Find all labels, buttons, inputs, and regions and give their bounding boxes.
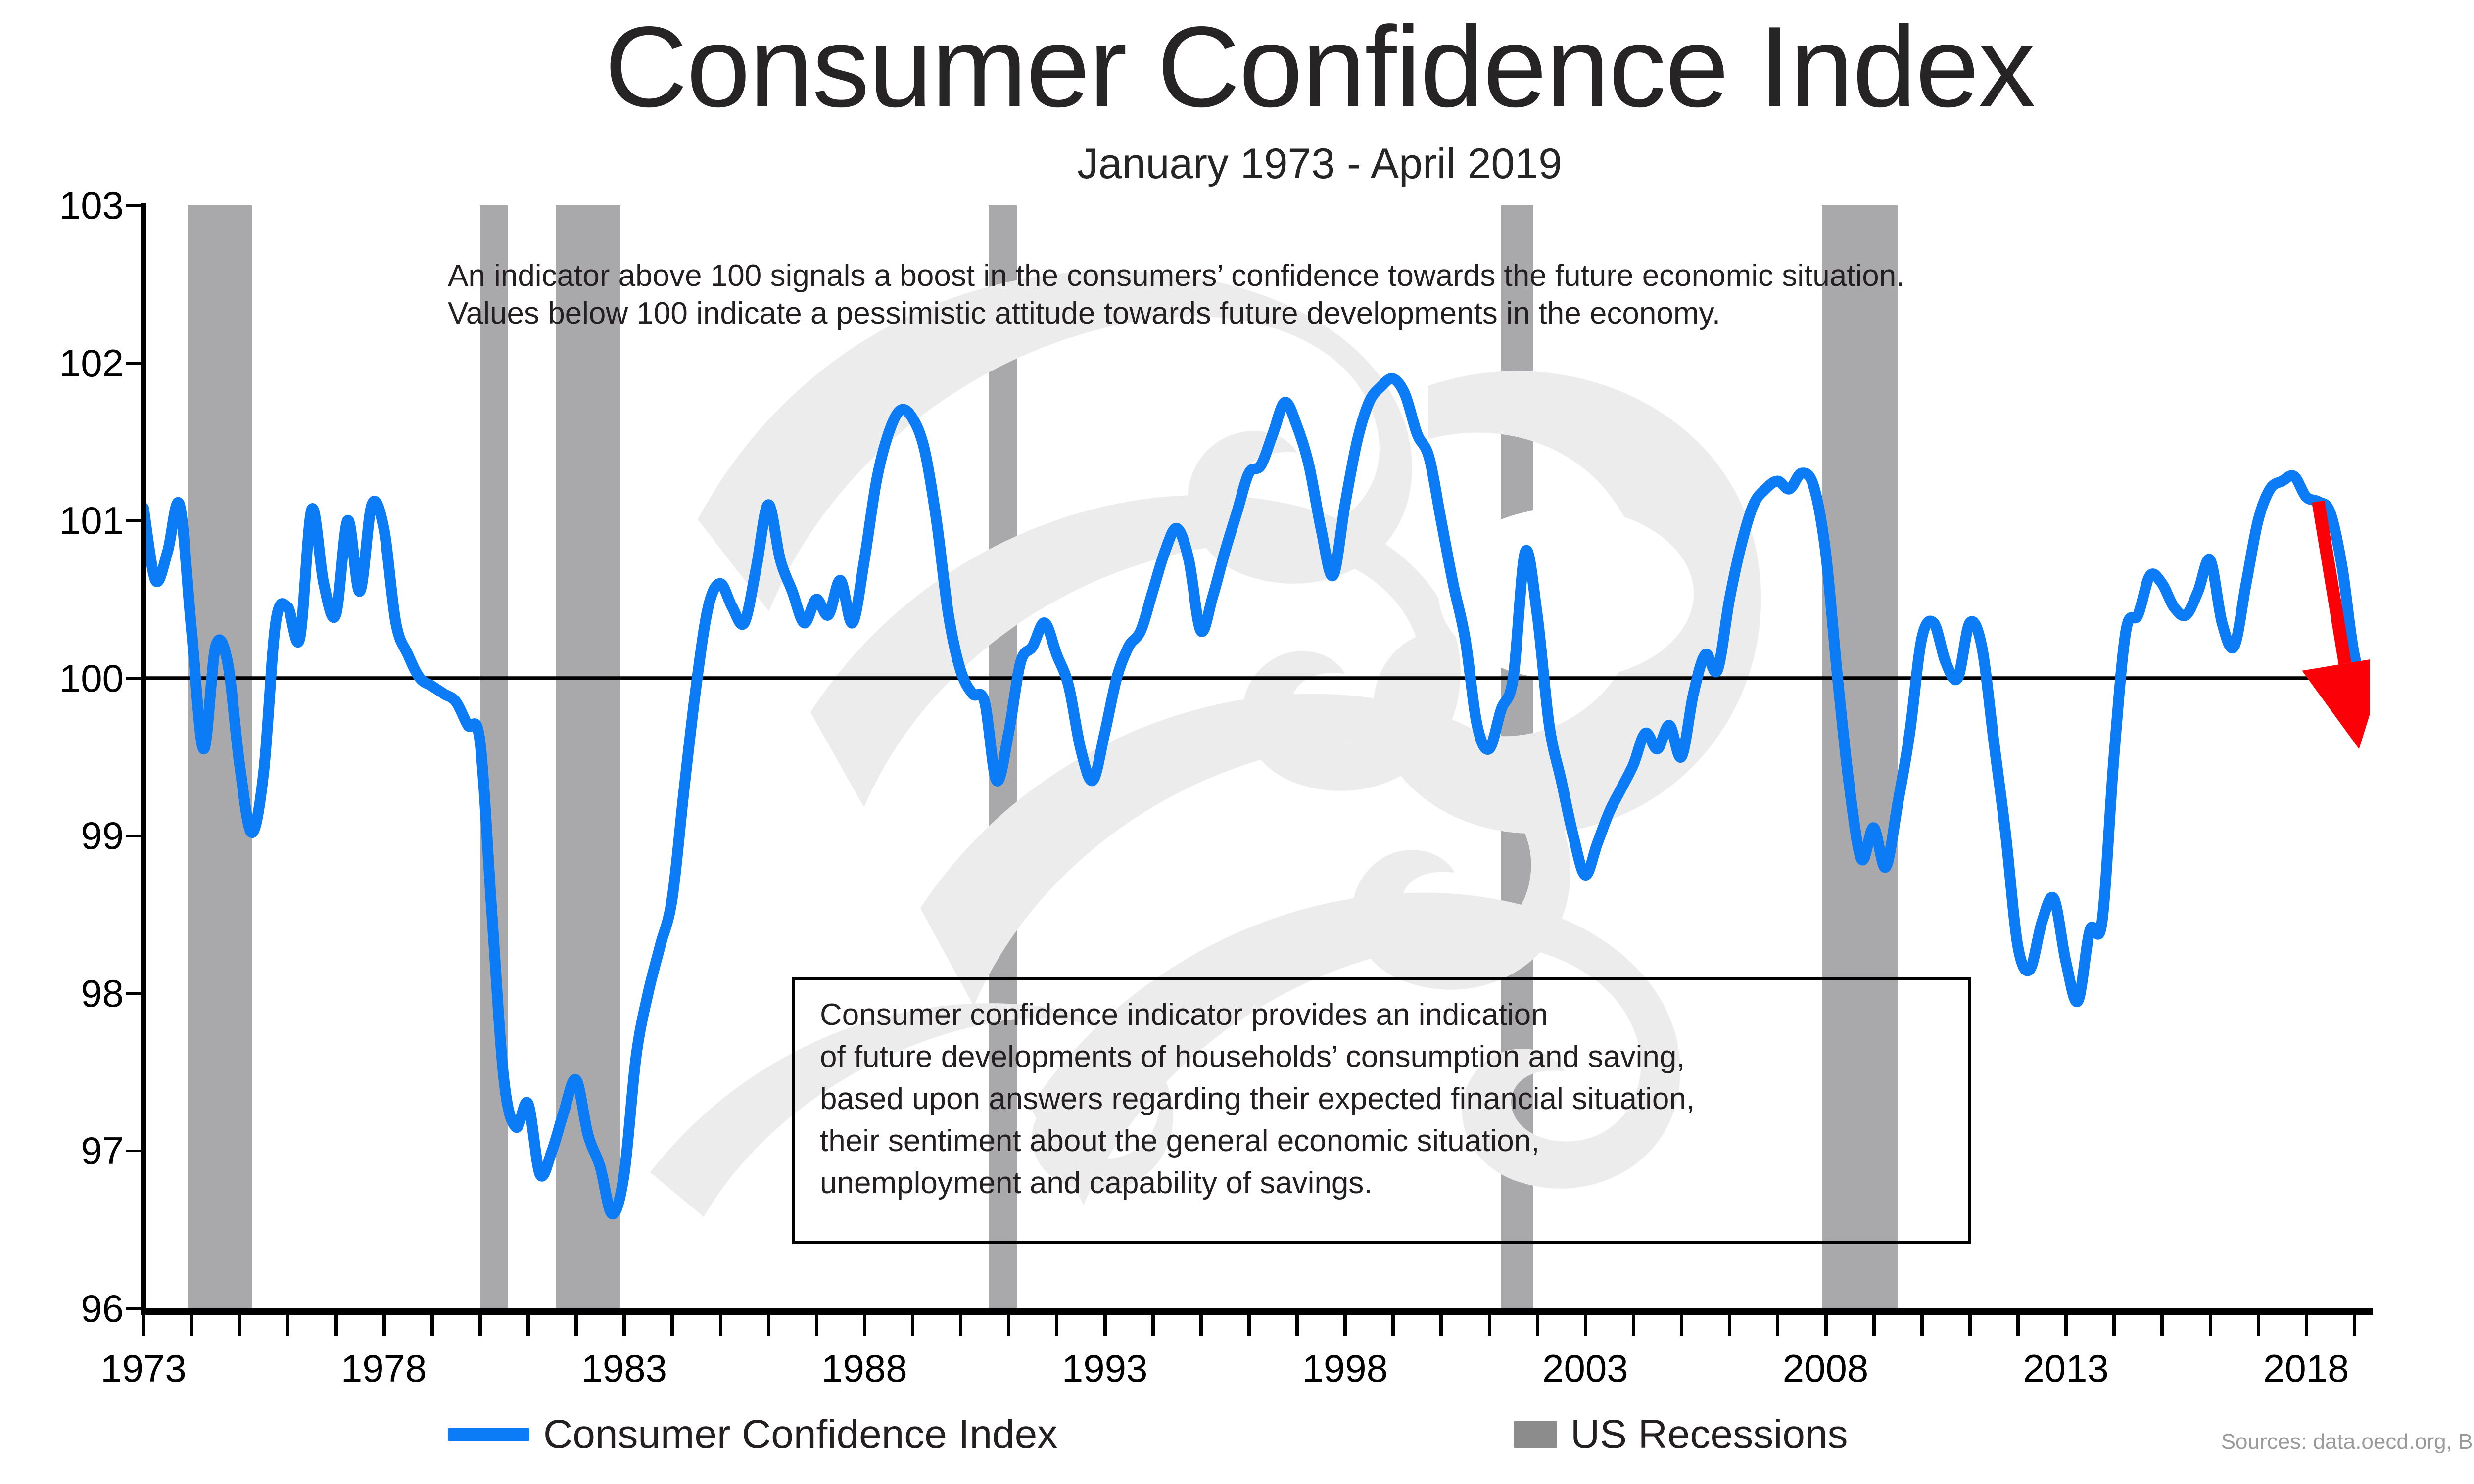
x-axis-tick-label: 1993	[1031, 1347, 1179, 1389]
x-axis-tick	[190, 1315, 193, 1336]
x-axis-tick	[1151, 1315, 1155, 1336]
definition-box: Consumer confidence indicator provides a…	[792, 977, 1971, 1244]
top-annotation-line-1: An indicator above 100 signals a boost i…	[448, 257, 2279, 295]
x-axis-tick-label: 2008	[1752, 1347, 1900, 1389]
y-axis-tick-label: 96	[10, 1289, 124, 1328]
x-axis-tick	[1391, 1315, 1395, 1336]
y-axis-tick-label: 102	[10, 344, 124, 382]
x-axis-tick	[1055, 1315, 1058, 1336]
x-axis-tick	[526, 1315, 530, 1336]
y-axis-tick	[126, 204, 143, 207]
x-axis-tick	[430, 1315, 434, 1336]
x-axis-tick	[2064, 1315, 2068, 1336]
x-axis-tick	[2209, 1315, 2212, 1336]
top-annotation-line-2: Values below 100 indicate a pessimistic …	[448, 295, 2279, 332]
x-axis-tick	[863, 1315, 866, 1336]
x-axis-tick-label: 1988	[790, 1347, 939, 1389]
x-axis-tick-label: 1998	[1271, 1347, 1419, 1389]
legend-swatch-box	[1514, 1421, 1557, 1448]
chart-legend: Consumer Confidence Index US Recessions	[0, 1405, 2474, 1469]
y-axis-labels: 96979899100101102103	[0, 0, 124, 1484]
x-axis-tick	[1103, 1315, 1107, 1336]
x-axis-tick	[767, 1315, 770, 1336]
definition-line-1: Consumer confidence indicator provides a…	[820, 994, 1968, 1036]
y-axis-tick	[126, 992, 143, 995]
x-axis-tick	[670, 1315, 674, 1336]
chart-canvas: Consumer Confidence Index January 1973 -…	[0, 0, 2474, 1484]
x-axis-tick-label: 1978	[310, 1347, 458, 1389]
y-axis-tick-label: 103	[10, 186, 124, 225]
x-axis-tick	[1536, 1315, 1539, 1336]
y-axis-tick	[126, 1150, 143, 1152]
x-axis-tick	[142, 1315, 145, 1336]
x-axis-tick	[719, 1315, 722, 1336]
x-axis-tick	[2016, 1315, 2020, 1336]
x-axis-tick	[959, 1315, 962, 1336]
x-axis-tick-label: 1983	[550, 1347, 698, 1389]
x-axis-tick	[1584, 1315, 1587, 1336]
chart-title: Consumer Confidence Index	[0, 10, 2474, 125]
x-axis-tick	[1920, 1315, 1924, 1336]
y-axis-tick	[126, 1307, 143, 1310]
x-axis-tick-label: 2013	[1992, 1347, 2140, 1389]
x-axis-tick	[1776, 1315, 1779, 1336]
x-axis-tick	[1872, 1315, 1876, 1336]
x-axis-tick	[2305, 1315, 2308, 1336]
legend-label-recessions: US Recessions	[1570, 1413, 1848, 1456]
legend-swatch-line	[448, 1428, 529, 1441]
x-axis-tick	[911, 1315, 914, 1336]
x-axis-tick	[2353, 1315, 2356, 1336]
x-axis-tick	[334, 1315, 338, 1336]
sources-note: Sources: data.oecd.org, BMG Group Inc.	[2221, 1430, 2474, 1454]
x-axis-tick	[1728, 1315, 1731, 1336]
y-axis-tick	[126, 362, 143, 365]
chart-subtitle: January 1973 - April 2019	[0, 142, 2474, 185]
x-axis-tick	[238, 1315, 241, 1336]
legend-label-series: Consumer Confidence Index	[543, 1413, 1057, 1456]
x-axis-tick	[622, 1315, 626, 1336]
x-axis-tick	[815, 1315, 818, 1336]
x-axis-tick	[2112, 1315, 2116, 1336]
y-axis-tick-label: 97	[10, 1131, 124, 1170]
legend-item-consumer-confidence-index[interactable]: Consumer Confidence Index	[448, 1405, 1057, 1464]
y-axis-tick-label: 100	[10, 659, 124, 697]
x-axis-tick	[2257, 1315, 2260, 1336]
x-axis-tick	[2160, 1315, 2164, 1336]
definition-line-4: their sentiment about the general econom…	[820, 1120, 1968, 1162]
x-axis-tick	[382, 1315, 386, 1336]
y-axis-tick	[126, 835, 143, 837]
x-axis-tick	[1680, 1315, 1683, 1336]
y-axis-tick-label: 99	[10, 816, 124, 855]
x-axis-line	[141, 1308, 2373, 1315]
x-axis-tick-label: 1973	[69, 1347, 218, 1389]
x-axis-tick	[1824, 1315, 1828, 1336]
y-axis-tick	[126, 677, 143, 680]
x-axis-tick	[478, 1315, 482, 1336]
x-axis-tick	[1488, 1315, 1491, 1336]
x-axis-tick	[286, 1315, 289, 1336]
x-axis-tick	[1007, 1315, 1010, 1336]
x-axis-tick	[1199, 1315, 1203, 1336]
x-axis-tick	[1343, 1315, 1347, 1336]
legend-item-us-recessions[interactable]: US Recessions	[1514, 1405, 1848, 1464]
x-axis-tick	[1247, 1315, 1251, 1336]
y-axis-tick-label: 98	[10, 974, 124, 1013]
x-axis-tick	[1632, 1315, 1635, 1336]
definition-line-2: of future developments of households’ co…	[820, 1036, 1968, 1078]
y-axis-tick	[126, 519, 143, 522]
definition-line-3: based upon answers regarding their expec…	[820, 1078, 1968, 1120]
x-axis-tick-label: 2003	[1511, 1347, 1660, 1389]
x-axis-tick	[1968, 1315, 1972, 1336]
x-axis-tick	[574, 1315, 578, 1336]
x-axis-tick-label: 2018	[2232, 1347, 2380, 1389]
y-axis-tick-label: 101	[10, 501, 124, 540]
top-annotation: An indicator above 100 signals a boost i…	[448, 257, 2279, 332]
x-axis-tick	[1295, 1315, 1299, 1336]
x-axis-tick	[1439, 1315, 1443, 1336]
y-axis-line	[141, 203, 146, 1312]
definition-line-5: unemployment and capability of savings.	[820, 1162, 1968, 1204]
